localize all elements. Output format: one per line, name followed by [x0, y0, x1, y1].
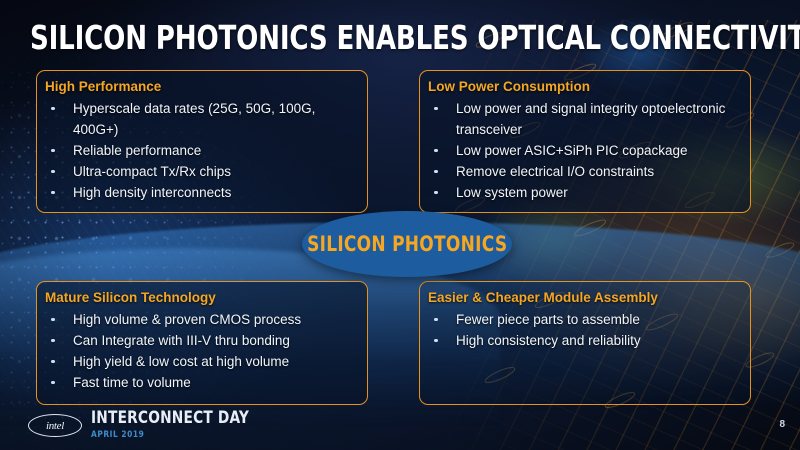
list-item: Reliable performance: [45, 140, 357, 161]
list-item: Low power ASIC+SiPh PIC copackage: [428, 140, 740, 161]
list-item-label: High consistency and reliability: [456, 333, 641, 348]
bullet-list: Hyperscale data rates (25G, 50G, 100G, 4…: [45, 98, 357, 203]
list-item: High yield & low cost at high volume: [45, 351, 357, 372]
card-heading: Easier & Cheaper Module Assembly: [428, 290, 740, 306]
bullet-dot-icon: [434, 149, 438, 153]
list-item: Ultra-compact Tx/Rx chips: [45, 161, 357, 182]
list-item-label: Low system power: [456, 185, 568, 200]
bullet-dot-icon: [51, 149, 55, 153]
list-item: Low system power: [428, 182, 740, 203]
card-heading: Mature Silicon Technology: [45, 290, 357, 306]
list-item-label: High volume & proven CMOS process: [73, 312, 301, 327]
intel-logo: intel: [28, 414, 82, 437]
card-heading: Low Power Consumption: [428, 79, 740, 95]
bullet-dot-icon: [51, 170, 55, 174]
list-item-label: High yield & low cost at high volume: [73, 354, 289, 369]
card-high-performance: High Performance Hyperscale data rates (…: [36, 70, 368, 213]
bullet-list: Low power and signal integrity optoelect…: [428, 98, 740, 203]
bullet-list: High volume & proven CMOS process Can In…: [45, 309, 357, 393]
list-item-label: Fast time to volume: [73, 375, 191, 390]
list-item: Fast time to volume: [45, 372, 357, 393]
list-item: Remove electrical I/O constraints: [428, 161, 740, 182]
list-item-label: High density interconnects: [73, 185, 231, 200]
list-item: Low power and signal integrity optoelect…: [428, 98, 740, 140]
bullet-dot-icon: [51, 318, 55, 322]
bullet-dot-icon: [51, 381, 55, 385]
list-item-label: Remove electrical I/O constraints: [456, 164, 654, 179]
list-item: High density interconnects: [45, 182, 357, 203]
footer-text-group: INTERCONNECT DAY APRIL 2019: [91, 410, 267, 441]
bullet-dot-icon: [51, 191, 55, 195]
card-easier-cheaper-module-assembly: Easier & Cheaper Module Assembly Fewer p…: [419, 281, 751, 405]
bullet-dot-icon: [434, 107, 438, 111]
list-item: High consistency and reliability: [428, 330, 740, 351]
center-node-label: SILICON PHOTONICS: [307, 232, 507, 256]
page-number: 8: [779, 419, 785, 430]
event-date: APRIL 2019: [91, 429, 253, 441]
list-item-label: Can Integrate with III-V thru bonding: [73, 333, 290, 348]
bullet-list: Fewer piece parts to assemble High consi…: [428, 309, 740, 351]
card-mature-silicon-technology: Mature Silicon Technology High volume & …: [36, 281, 368, 405]
bullet-dot-icon: [51, 339, 55, 343]
bullet-dot-icon: [434, 191, 438, 195]
bullet-dot-icon: [434, 318, 438, 322]
list-item-label: Reliable performance: [73, 143, 201, 158]
list-item: Hyperscale data rates (25G, 50G, 100G, 4…: [45, 98, 357, 140]
footer: intel INTERCONNECT DAY APRIL 2019: [28, 410, 267, 441]
bullet-dot-icon: [51, 360, 55, 364]
center-node-silicon-photonics: SILICON PHOTONICS: [302, 211, 512, 277]
bullet-dot-icon: [51, 107, 55, 111]
list-item-label: Ultra-compact Tx/Rx chips: [73, 164, 231, 179]
card-heading: High Performance: [45, 79, 357, 95]
list-item-label: Low power ASIC+SiPh PIC copackage: [456, 143, 688, 158]
event-name: INTERCONNECT DAY: [91, 410, 249, 427]
card-low-power-consumption: Low Power Consumption Low power and sign…: [419, 70, 751, 213]
list-item: Fewer piece parts to assemble: [428, 309, 740, 330]
list-item-label: Low power and signal integrity optoelect…: [456, 101, 725, 137]
list-item-label: Fewer piece parts to assemble: [456, 312, 640, 327]
list-item: Can Integrate with III-V thru bonding: [45, 330, 357, 351]
bullet-dot-icon: [434, 339, 438, 343]
list-item-label: Hyperscale data rates (25G, 50G, 100G, 4…: [73, 101, 315, 137]
page-title: SILICON PHOTONICS ENABLES OPTICAL CONNEC…: [30, 17, 681, 59]
list-item: High volume & proven CMOS process: [45, 309, 357, 330]
slide-canvas: SILICON PHOTONICS ENABLES OPTICAL CONNEC…: [0, 0, 800, 450]
bullet-dot-icon: [434, 170, 438, 174]
intel-logo-label: intel: [46, 420, 64, 432]
